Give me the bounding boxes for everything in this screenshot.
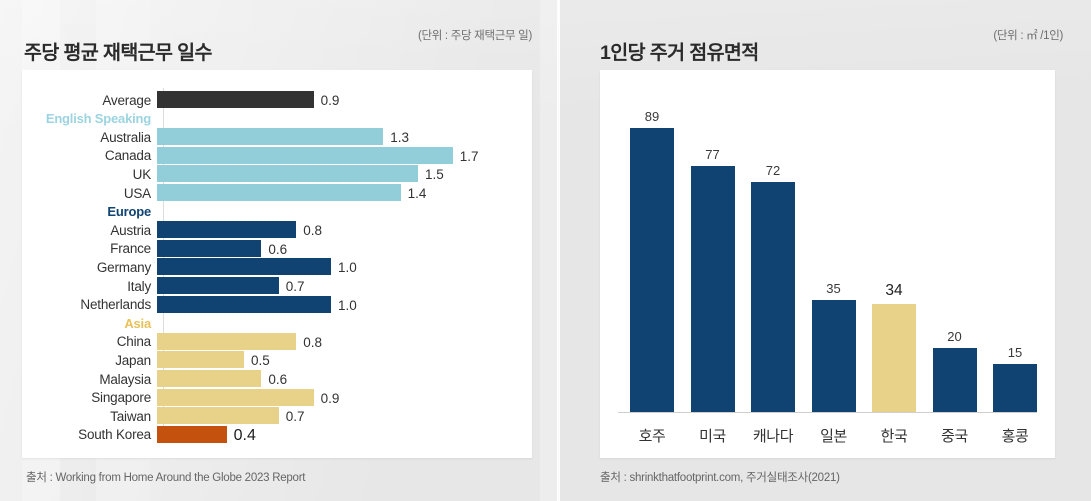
bar [157, 240, 261, 257]
bar-row-label: Europe [22, 204, 157, 219]
bar [157, 426, 227, 443]
bar-track: 0.8 [157, 332, 532, 352]
bar [933, 348, 977, 412]
bar-category-label: 호주 [618, 425, 686, 446]
bar-value-label: 35 [806, 281, 862, 296]
bar-value-label: 0.5 [251, 350, 270, 370]
bar-category-label: 미국 [679, 425, 747, 446]
bar-value-label: 1.4 [408, 183, 427, 203]
bar [872, 304, 916, 412]
bar-row: Germany1.0 [22, 257, 532, 277]
bar-row-label: Austria [22, 223, 157, 238]
bar-track [157, 109, 532, 129]
bar-category-label: 일본 [800, 425, 868, 446]
bar-value-label: 1.3 [390, 127, 409, 147]
bar-track: 0.7 [157, 406, 532, 426]
bar [157, 389, 314, 406]
bar-column: 35일본 [806, 70, 862, 458]
bar-group-header: Europe [22, 202, 532, 222]
bar-column: 15홍콩 [987, 70, 1043, 458]
bar-row: Canada1.7 [22, 146, 532, 166]
bar-value-label: 77 [685, 147, 741, 162]
bar [157, 184, 401, 201]
bar-value-label: 1.5 [425, 164, 444, 184]
bar-track: 0.4 [157, 425, 532, 445]
bar [157, 333, 296, 350]
bar [157, 91, 314, 108]
bar-value-label: 0.8 [303, 332, 322, 352]
right-chart-unit-label: (단위 : ㎡ /1인) [993, 27, 1063, 43]
bar-row-label: Singapore [22, 390, 157, 405]
bar-row: Italy0.7 [22, 276, 532, 296]
bar [157, 351, 244, 368]
horizontal-bar-chart: Average0.9English SpeakingAustralia1.3Ca… [22, 70, 532, 458]
bar-row: China0.8 [22, 332, 532, 352]
right-chart-title: 1인당 주거 점유면적 [600, 36, 759, 65]
bar-value-label: 0.9 [321, 388, 340, 408]
bar-track: 0.9 [157, 388, 532, 408]
bar-row: Malaysia0.6 [22, 369, 532, 389]
bar-row-label: Malaysia [22, 372, 157, 387]
bar-row: Average0.9 [22, 90, 532, 110]
left-chart-source: 출처 : Working from Home Around the Globe … [26, 469, 305, 485]
bar-row-label: Netherlands [22, 297, 157, 312]
bar-row-label: Average [22, 93, 157, 108]
bar-value-label: 20 [927, 329, 983, 344]
bar-category-label: 캐나다 [739, 425, 807, 446]
bar-value-label: 1.0 [338, 257, 357, 277]
bar-row-label: Canada [22, 148, 157, 163]
bar-track: 1.0 [157, 295, 532, 315]
bar-value-label: 0.6 [268, 369, 287, 389]
bar-row-label: France [22, 241, 157, 256]
bar [157, 370, 261, 387]
right-chart-source: 출처 : shrinkthatfootprint.com, 주거실태조사(202… [600, 469, 840, 485]
bar [157, 296, 331, 313]
bar-row-label: UK [22, 167, 157, 182]
bar-track: 1.4 [157, 183, 532, 203]
bar-value-label: 72 [745, 163, 801, 178]
bar-value-label: 0.7 [286, 406, 305, 426]
bar-value-label: 0.8 [303, 220, 322, 240]
bar-row-label: Taiwan [22, 409, 157, 424]
left-chart-panel: 주당 평균 재택근무 일수 (단위 : 주당 재택근무 일) Average0.… [0, 0, 560, 501]
bar-value-label: 0.4 [234, 425, 256, 445]
bar-row-label: Germany [22, 260, 157, 275]
bar-category-label: 한국 [860, 425, 928, 446]
bar-column: 20중국 [927, 70, 983, 458]
bar [691, 166, 735, 412]
bar-track: 1.3 [157, 127, 532, 147]
bar-track [157, 202, 532, 222]
bar-row: Australia1.3 [22, 127, 532, 147]
right-chart-panel: 1인당 주거 점유면적 (단위 : ㎡ /1인) 89호주77미국72캐나다35… [560, 0, 1091, 501]
bar [157, 258, 331, 275]
bar [157, 221, 296, 238]
bar-column: 34한국 [866, 70, 922, 458]
bar-value-label: 1.0 [338, 295, 357, 315]
bar-row-label: China [22, 334, 157, 349]
bar-row: South Korea0.4 [22, 425, 532, 445]
bar-track: 0.9 [157, 90, 532, 110]
bar [157, 407, 279, 424]
bar-track [157, 313, 532, 333]
bar-category-label: 중국 [921, 425, 989, 446]
bar-track: 0.6 [157, 239, 532, 259]
bar-row: Taiwan0.7 [22, 406, 532, 426]
left-panel-header: 주당 평균 재택근무 일수 (단위 : 주당 재택근무 일) [0, 18, 560, 62]
bar-track: 1.5 [157, 164, 532, 184]
left-chart-card: Average0.9English SpeakingAustralia1.3Ca… [22, 70, 532, 458]
bar [751, 182, 795, 412]
left-chart-title: 주당 평균 재택근무 일수 [24, 36, 212, 65]
bar-group-header: English Speaking [22, 109, 532, 129]
bar-column: 89호주 [624, 70, 680, 458]
bar-value-label: 34 [866, 282, 922, 300]
bar-track: 0.8 [157, 220, 532, 240]
bar-row: Austria0.8 [22, 220, 532, 240]
bar-value-label: 0.9 [321, 90, 340, 110]
bar [157, 165, 418, 182]
bar [157, 147, 453, 164]
bar-row-label: Japan [22, 353, 157, 368]
bar-value-label: 1.7 [460, 146, 479, 166]
vertical-bar-chart: 89호주77미국72캐나다35일본34한국20중국15홍콩 [600, 70, 1055, 458]
bar-track: 1.0 [157, 257, 532, 277]
bar [157, 277, 279, 294]
bar-value-label: 0.7 [286, 276, 305, 296]
bar-track: 1.7 [157, 146, 532, 166]
bar-row: Netherlands1.0 [22, 295, 532, 315]
right-panel-header: 1인당 주거 점유면적 (단위 : ㎡ /1인) [560, 18, 1091, 62]
left-chart-unit-label: (단위 : 주당 재택근무 일) [418, 27, 532, 43]
bar-row: UK1.5 [22, 164, 532, 184]
bar-row: USA1.4 [22, 183, 532, 203]
bar-track: 0.6 [157, 369, 532, 389]
bar-row-label: USA [22, 186, 157, 201]
bar-value-label: 15 [987, 345, 1043, 360]
bar-row-label: Asia [22, 316, 157, 331]
bar-row: Japan0.5 [22, 350, 532, 370]
bar-row: France0.6 [22, 239, 532, 259]
bar [812, 300, 856, 412]
bar-value-label: 0.6 [268, 239, 287, 259]
bar-row-label: Italy [22, 279, 157, 294]
bar-row-label: English Speaking [22, 111, 157, 126]
bar-category-label: 홍콩 [981, 425, 1049, 446]
bar-group-header: Asia [22, 313, 532, 333]
bar-value-label: 89 [624, 109, 680, 124]
bar-track: 0.7 [157, 276, 532, 296]
bar [993, 364, 1037, 412]
bar-column: 77미국 [685, 70, 741, 458]
bar-row: Singapore0.9 [22, 388, 532, 408]
bar-row-label: South Korea [22, 427, 157, 442]
infographic-stage: 주당 평균 재택근무 일수 (단위 : 주당 재택근무 일) Average0.… [0, 0, 1091, 501]
bar-row-label: Australia [22, 130, 157, 145]
bar-column: 72캐나다 [745, 70, 801, 458]
right-chart-card: 89호주77미국72캐나다35일본34한국20중국15홍콩 [600, 70, 1055, 458]
bar [630, 128, 674, 412]
bar [157, 128, 383, 145]
bar-track: 0.5 [157, 350, 532, 370]
